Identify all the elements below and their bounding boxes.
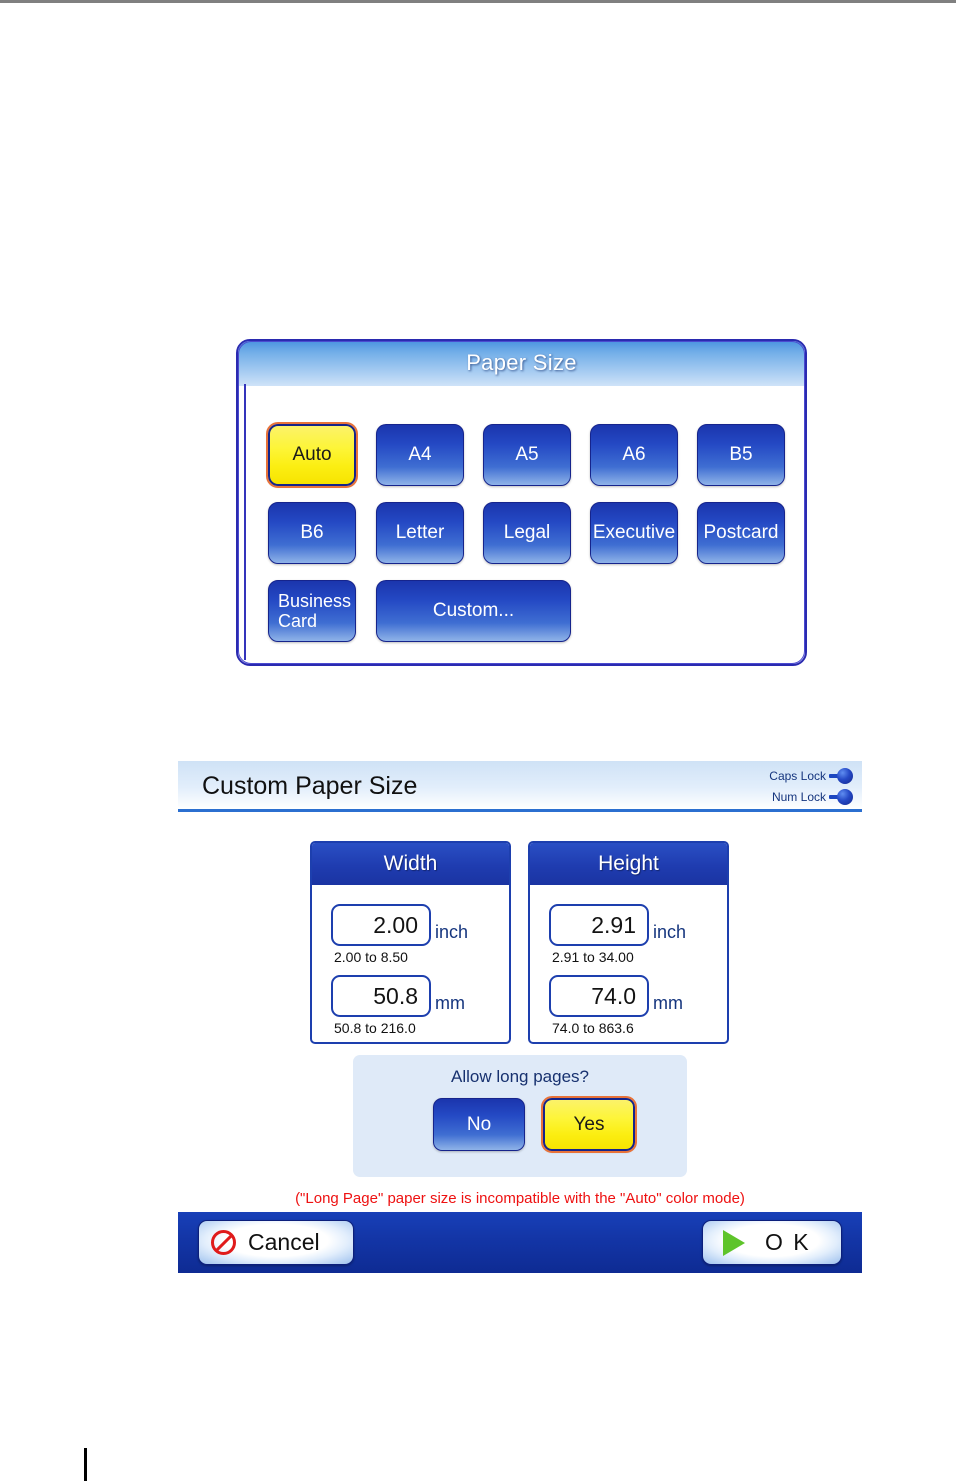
paper-size-button-b6-label: B6 bbox=[300, 522, 323, 543]
paper-size-button-legal-label: Legal bbox=[504, 522, 551, 543]
height-mm-input[interactable]: 74.0 bbox=[549, 975, 649, 1017]
paper-size-button-postcard[interactable]: Postcard bbox=[697, 502, 785, 564]
allow-long-pages-no-label: No bbox=[467, 1114, 491, 1136]
width-mm-row: 50.8 mm bbox=[331, 975, 465, 1017]
paper-size-button-letter[interactable]: Letter bbox=[376, 502, 464, 564]
custom-paper-size-title: Custom Paper Size bbox=[202, 772, 417, 801]
paper-size-button-b5-label: B5 bbox=[729, 444, 752, 465]
paper-size-dialog-left-inset-line bbox=[244, 384, 246, 660]
ok-button-label: O K bbox=[765, 1229, 811, 1256]
paper-size-button-postcard-label: Postcard bbox=[704, 522, 779, 543]
custom-paper-size-body: Width 2.00 inch 2.00 to 8.50 50.8 mm 50.… bbox=[178, 812, 862, 1212]
play-triangle-icon bbox=[723, 1230, 745, 1256]
custom-paper-size-dialog: Custom Paper Size Caps Lock Num Lock Wid… bbox=[178, 761, 862, 1273]
paper-size-button-a5[interactable]: A5 bbox=[483, 424, 571, 486]
paper-size-button-custom-label: Custom... bbox=[433, 600, 514, 621]
height-inch-unit-label: inch bbox=[653, 922, 686, 946]
no-entry-icon bbox=[211, 1230, 236, 1255]
num-lock-label: Num Lock bbox=[772, 790, 826, 804]
paper-size-dialog: Paper Size Auto A4 A5 A6 B5 B6 Letter Le… bbox=[236, 339, 807, 666]
width-inch-unit-label: inch bbox=[435, 922, 468, 946]
height-mm-unit-label: mm bbox=[653, 993, 683, 1017]
width-panel: Width 2.00 inch 2.00 to 8.50 50.8 mm 50.… bbox=[310, 841, 511, 1044]
paper-size-button-b5[interactable]: B5 bbox=[697, 424, 785, 486]
allow-long-pages-yes-label: Yes bbox=[574, 1114, 605, 1136]
paper-size-button-legal[interactable]: Legal bbox=[483, 502, 571, 564]
width-mm-unit-label: mm bbox=[435, 993, 465, 1017]
height-panel: Height 2.91 inch 2.91 to 34.00 74.0 mm 7… bbox=[528, 841, 729, 1044]
height-panel-body: 2.91 inch 2.91 to 34.00 74.0 mm 74.0 to … bbox=[530, 885, 727, 1044]
width-inch-range: 2.00 to 8.50 bbox=[334, 949, 408, 965]
long-page-warning-text: ("Long Page" paper size is incompatible … bbox=[178, 1190, 862, 1207]
paper-size-button-a4[interactable]: A4 bbox=[376, 424, 464, 486]
paper-size-button-letter-label: Letter bbox=[396, 522, 445, 543]
num-lock-indicator: Num Lock bbox=[735, 786, 855, 807]
paper-size-button-auto[interactable]: Auto bbox=[268, 424, 356, 486]
paper-size-button-b6[interactable]: B6 bbox=[268, 502, 356, 564]
allow-long-pages-yes-button[interactable]: Yes bbox=[543, 1098, 635, 1151]
paper-size-button-executive[interactable]: Executive bbox=[590, 502, 678, 564]
paper-size-button-auto-label: Auto bbox=[292, 444, 331, 465]
height-inch-row: 2.91 inch bbox=[549, 904, 686, 946]
paper-size-titlebar: Paper Size bbox=[238, 341, 805, 387]
allow-long-pages-panel: Allow long pages? No Yes bbox=[353, 1055, 687, 1177]
height-panel-heading: Height bbox=[530, 843, 727, 885]
paper-size-button-business-card-label: Business Card bbox=[278, 591, 355, 631]
caps-lock-indicator: Caps Lock bbox=[735, 765, 855, 786]
height-mm-row: 74.0 mm bbox=[549, 975, 683, 1017]
height-inch-input[interactable]: 2.91 bbox=[549, 904, 649, 946]
height-inch-range: 2.91 to 34.00 bbox=[552, 949, 634, 965]
width-panel-body: 2.00 inch 2.00 to 8.50 50.8 mm 50.8 to 2… bbox=[312, 885, 509, 1044]
paper-size-button-a4-label: A4 bbox=[408, 444, 431, 465]
width-inch-row: 2.00 inch bbox=[331, 904, 468, 946]
paper-size-button-business-card[interactable]: Business Card bbox=[268, 580, 356, 642]
custom-paper-size-footer: Cancel O K bbox=[178, 1212, 862, 1273]
paper-size-button-executive-label: Executive bbox=[593, 522, 675, 543]
width-panel-heading: Width bbox=[312, 843, 509, 885]
page-top-rule bbox=[0, 0, 956, 3]
allow-long-pages-no-button[interactable]: No bbox=[433, 1098, 525, 1151]
num-lock-led-icon bbox=[829, 788, 855, 805]
paper-size-button-a6[interactable]: A6 bbox=[590, 424, 678, 486]
paper-size-button-custom[interactable]: Custom... bbox=[376, 580, 571, 642]
caps-lock-label: Caps Lock bbox=[769, 769, 826, 783]
paper-size-button-grid: Auto A4 A5 A6 B5 B6 Letter Legal Executi… bbox=[238, 386, 805, 666]
custom-paper-size-header: Custom Paper Size Caps Lock Num Lock bbox=[178, 761, 862, 812]
lock-indicator-group: Caps Lock Num Lock bbox=[735, 765, 855, 807]
width-mm-input[interactable]: 50.8 bbox=[331, 975, 431, 1017]
cancel-button-label: Cancel bbox=[248, 1229, 320, 1256]
height-mm-range: 74.0 to 863.6 bbox=[552, 1020, 634, 1036]
paper-size-title: Paper Size bbox=[238, 350, 805, 376]
width-inch-input[interactable]: 2.00 bbox=[331, 904, 431, 946]
width-mm-range: 50.8 to 216.0 bbox=[334, 1020, 416, 1036]
page-margin-mark bbox=[84, 1448, 87, 1481]
cancel-button[interactable]: Cancel bbox=[198, 1220, 354, 1265]
caps-lock-led-icon bbox=[829, 767, 855, 784]
allow-long-pages-question: Allow long pages? bbox=[353, 1067, 687, 1087]
paper-size-button-a6-label: A6 bbox=[622, 444, 645, 465]
paper-size-button-a5-label: A5 bbox=[515, 444, 538, 465]
ok-button[interactable]: O K bbox=[702, 1220, 842, 1265]
